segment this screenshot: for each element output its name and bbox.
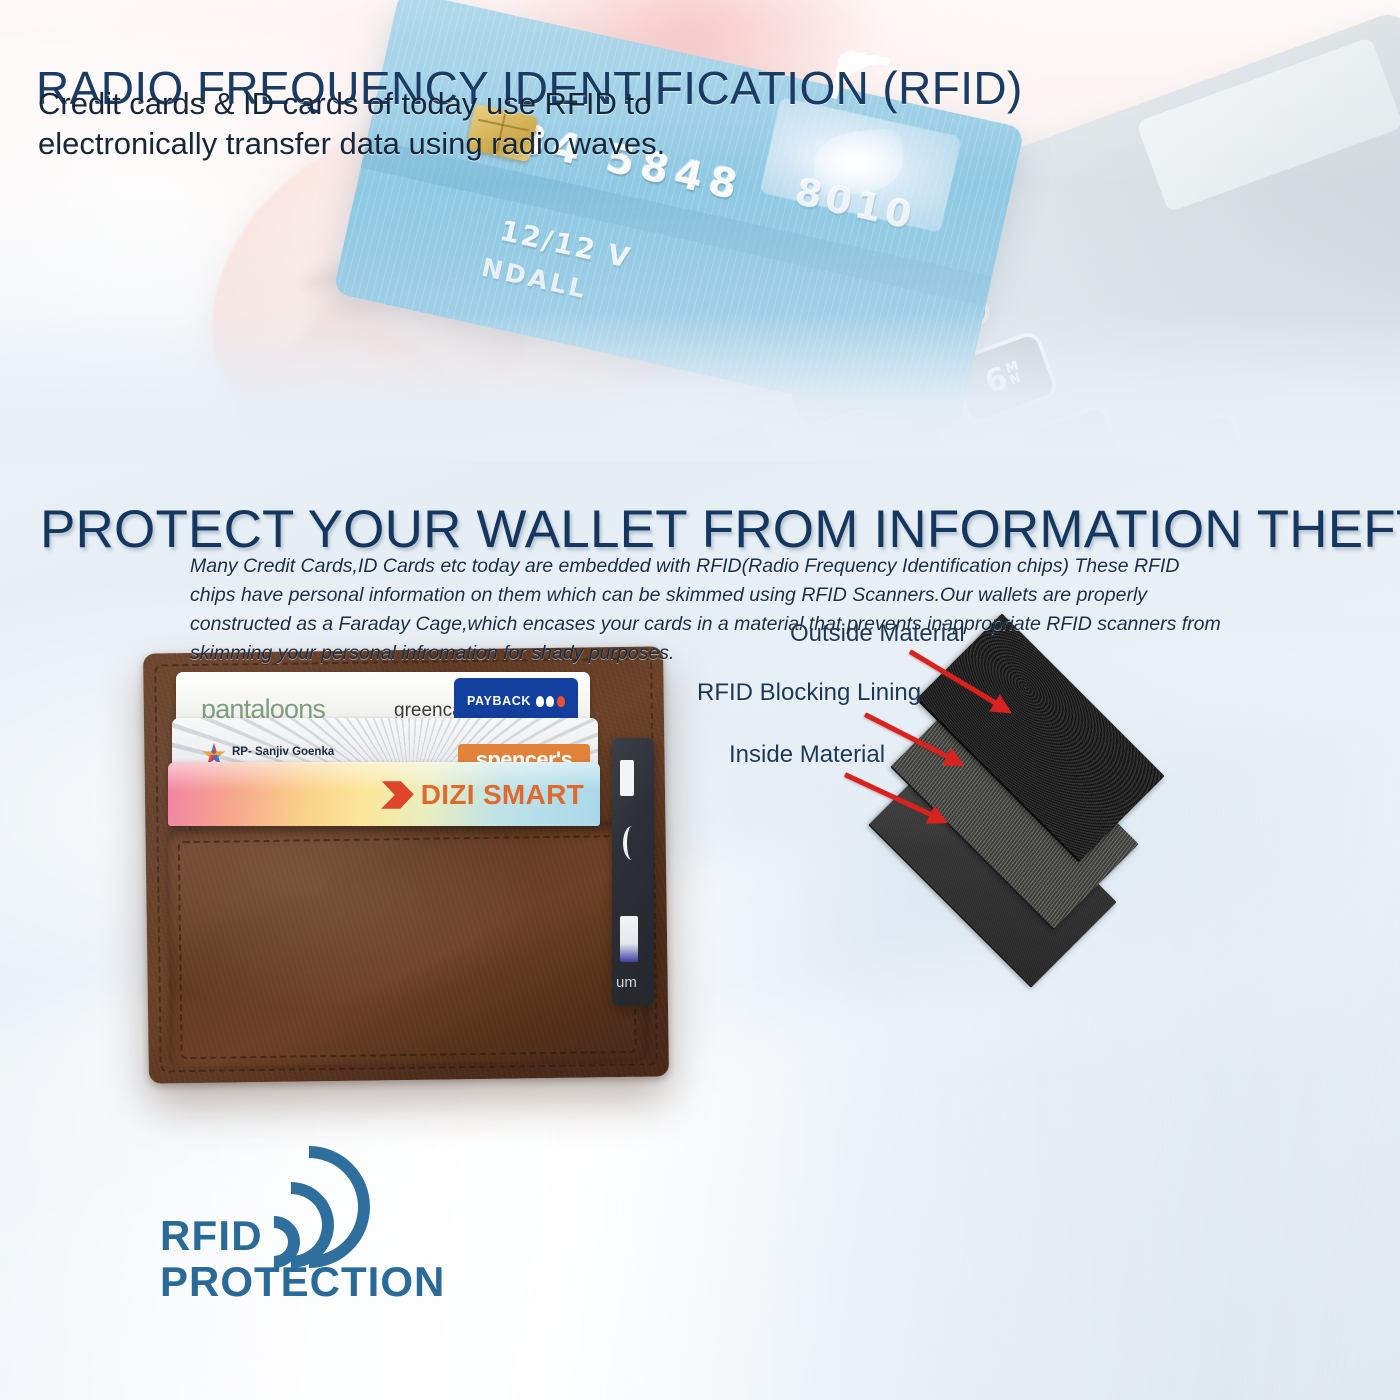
infographic-page: 1QZ 2AB 3DE 4GH 5JK 6MN 7PR 8TU 9WX #*. … — [0, 0, 1400, 1400]
main-body-text: Many Credit Cards,ID Cards etc today are… — [190, 552, 1230, 668]
keypad-key-6: 6MN — [951, 334, 1055, 422]
black-card-edge: um — [612, 738, 654, 1006]
dizi-smart-logo: DIZI SMART — [380, 779, 584, 811]
wallet-front-pocket — [168, 825, 647, 1068]
payback-dots-icon — [536, 696, 565, 707]
label-inside-material: Inside Material — [729, 741, 885, 769]
card-brand-label: RP- Sanjiv Goenka — [232, 746, 334, 758]
keypad-key-enter — [1147, 414, 1251, 462]
hand-knuckle-lower — [229, 313, 462, 462]
keypad-key-1: 1QZ — [680, 420, 784, 462]
keypad-key-2: 2AB — [782, 340, 886, 428]
black-card-notch-top — [620, 760, 634, 796]
pocket-stitching — [178, 835, 637, 1059]
label-rfid-blocking-lining: RFID Blocking Lining — [697, 679, 921, 707]
dizi-label: DIZI SMART — [421, 779, 584, 811]
payback-label: PAYBACK — [467, 694, 531, 708]
black-card-notch-bottom — [620, 916, 638, 962]
black-card-text: um — [616, 974, 637, 991]
rfid-protection-logo: RFID PROTECTION — [160, 1196, 470, 1306]
logo-line-1: RFID — [160, 1212, 263, 1260]
rfid-signal-waves-icon — [248, 1188, 353, 1268]
logo-line-2: PROTECTION — [160, 1258, 445, 1306]
black-card-curve — [623, 826, 641, 860]
keypad-key-5: 5JK — [850, 414, 954, 462]
card-dizi-smart: DIZI SMART — [168, 762, 600, 826]
material-layers-diagram — [880, 630, 1210, 900]
intro-subtext: Credit cards & ID cards of today use RFI… — [38, 84, 665, 165]
dizi-arrow-icon — [380, 780, 414, 810]
keypad-key-9: 9WX — [1019, 407, 1123, 462]
label-outside-material: Outside Material — [790, 620, 965, 648]
